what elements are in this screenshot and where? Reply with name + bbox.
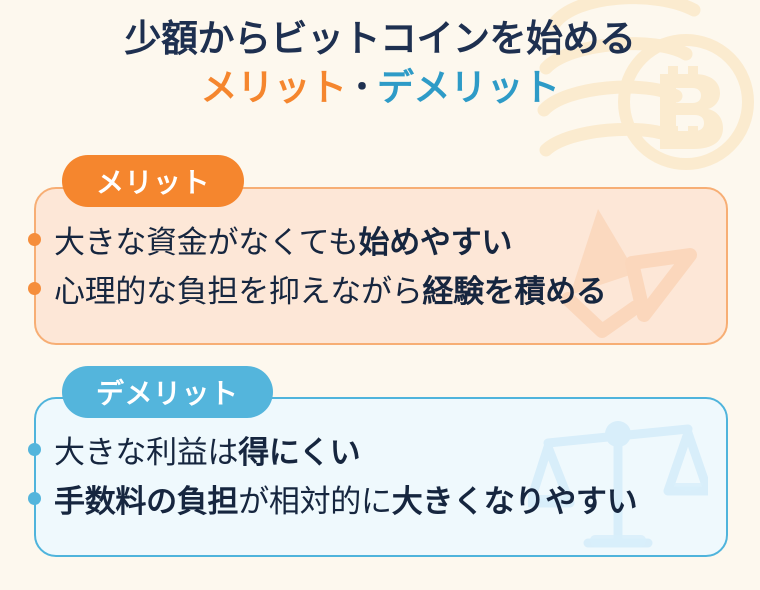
title-line-2: メリット・デメリット (0, 65, 760, 111)
title-line-1: 少額からビットコインを始める (0, 16, 760, 61)
bullet-text-bold: 得にくい (238, 435, 360, 470)
demerit-bullet-list: 大きな利益は得にくい 手数料の負担が相対的に大きくなりやすい (24, 425, 742, 523)
bullet-text-normal: 大きな資金がなくても (54, 225, 359, 260)
bullet-dot-icon (28, 233, 41, 246)
bullet-dot-icon (28, 492, 41, 505)
bullet-text-normal: 心理的な負担を抑えながら (54, 274, 422, 309)
merit-bullet-list: 大きな資金がなくても始めやすい 心理的な負担を抑えながら経験を積める (24, 215, 742, 313)
list-item: 手数料の負担が相対的に大きくなりやすい (24, 474, 742, 523)
page-title: 少額からビットコインを始める メリット・デメリット (0, 16, 760, 111)
bullet-text-lead-bold: 手数料の負担 (54, 484, 238, 519)
demerit-badge: デメリット (62, 366, 273, 418)
merit-bullet-2: 心理的な負担を抑えながら経験を積める (54, 266, 607, 311)
list-item: 大きな利益は得にくい (24, 425, 742, 474)
bullet-text-normal: が相対的に (238, 484, 392, 519)
title-separator: ・ (347, 70, 378, 105)
merit-badge: メリット (62, 155, 244, 207)
title-merit-word: メリット (201, 67, 347, 108)
merit-badge-label: メリット (96, 161, 210, 201)
bullet-text-bold: 大きくなりやすい (392, 484, 638, 519)
infographic-canvas: 少額からビットコインを始める メリット・デメリット メリット 大きな資金がなくて… (0, 0, 760, 590)
demerit-bullet-2: 手数料の負担が相対的に大きくなりやすい (54, 476, 637, 521)
bullet-text-bold: 始めやすい (359, 225, 513, 260)
bullet-dot-icon (28, 282, 41, 295)
bullet-text-bold: 経験を積める (422, 274, 606, 309)
merit-bullet-1: 大きな資金がなくても始めやすい (54, 217, 512, 262)
demerit-badge-label: デメリット (96, 372, 239, 412)
demerit-bullet-1: 大きな利益は得にくい (54, 427, 360, 472)
bullet-text-normal: 大きな利益は (54, 435, 238, 470)
title-demerit-word: デメリット (377, 67, 560, 108)
list-item: 心理的な負担を抑えながら経験を積める (24, 264, 742, 313)
list-item: 大きな資金がなくても始めやすい (24, 215, 742, 264)
bullet-dot-icon (28, 443, 41, 456)
